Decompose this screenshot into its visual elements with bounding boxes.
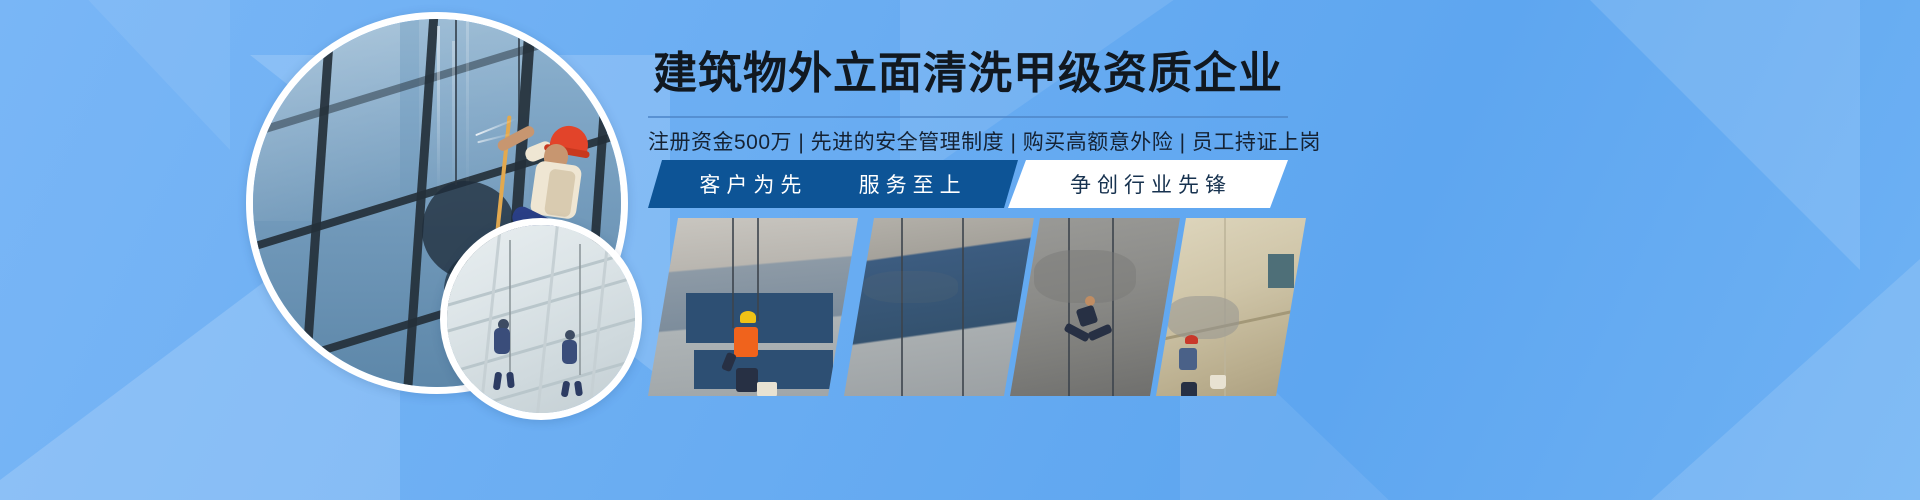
headline-divider: [648, 116, 1288, 118]
slogan-item-1: 客户为先: [699, 169, 807, 199]
slogan-item-2: 服务至上: [859, 169, 967, 199]
photo-strip-panel-1: [648, 218, 858, 396]
promo-banner: 建筑物外立面清洗甲级资质企业 注册资金500万 | 先进的安全管理制度 | 购买…: [0, 0, 1920, 500]
slogan-ribbon: 客户为先 服务至上 争创行业先锋: [648, 160, 1288, 208]
ribbon-right-text: 争创行业先锋: [1008, 160, 1280, 208]
background-triangle-icon: [60, 0, 230, 150]
banner-subheadline: 注册资金500万 | 先进的安全管理制度 | 购买高额意外险 | 员工持证上岗: [648, 126, 1288, 156]
background-triangle-icon: [1560, 0, 1860, 270]
ribbon-left-text: 客户为先 服务至上: [648, 160, 1018, 208]
photo-strip-panel-4: [1156, 218, 1336, 396]
photo-circle-secondary: [440, 218, 642, 420]
photo-strip-panel-3: [1010, 218, 1180, 396]
photo-strip-panel-2: [844, 218, 1034, 396]
banner-headline: 建筑物外立面清洗甲级资质企业: [648, 52, 1288, 96]
photo-strip: [648, 218, 1292, 396]
light-facade-scene: [447, 225, 635, 413]
background-triangle-icon: [1640, 250, 1920, 500]
slogan-item-3: 争创行业先锋: [1070, 169, 1232, 199]
